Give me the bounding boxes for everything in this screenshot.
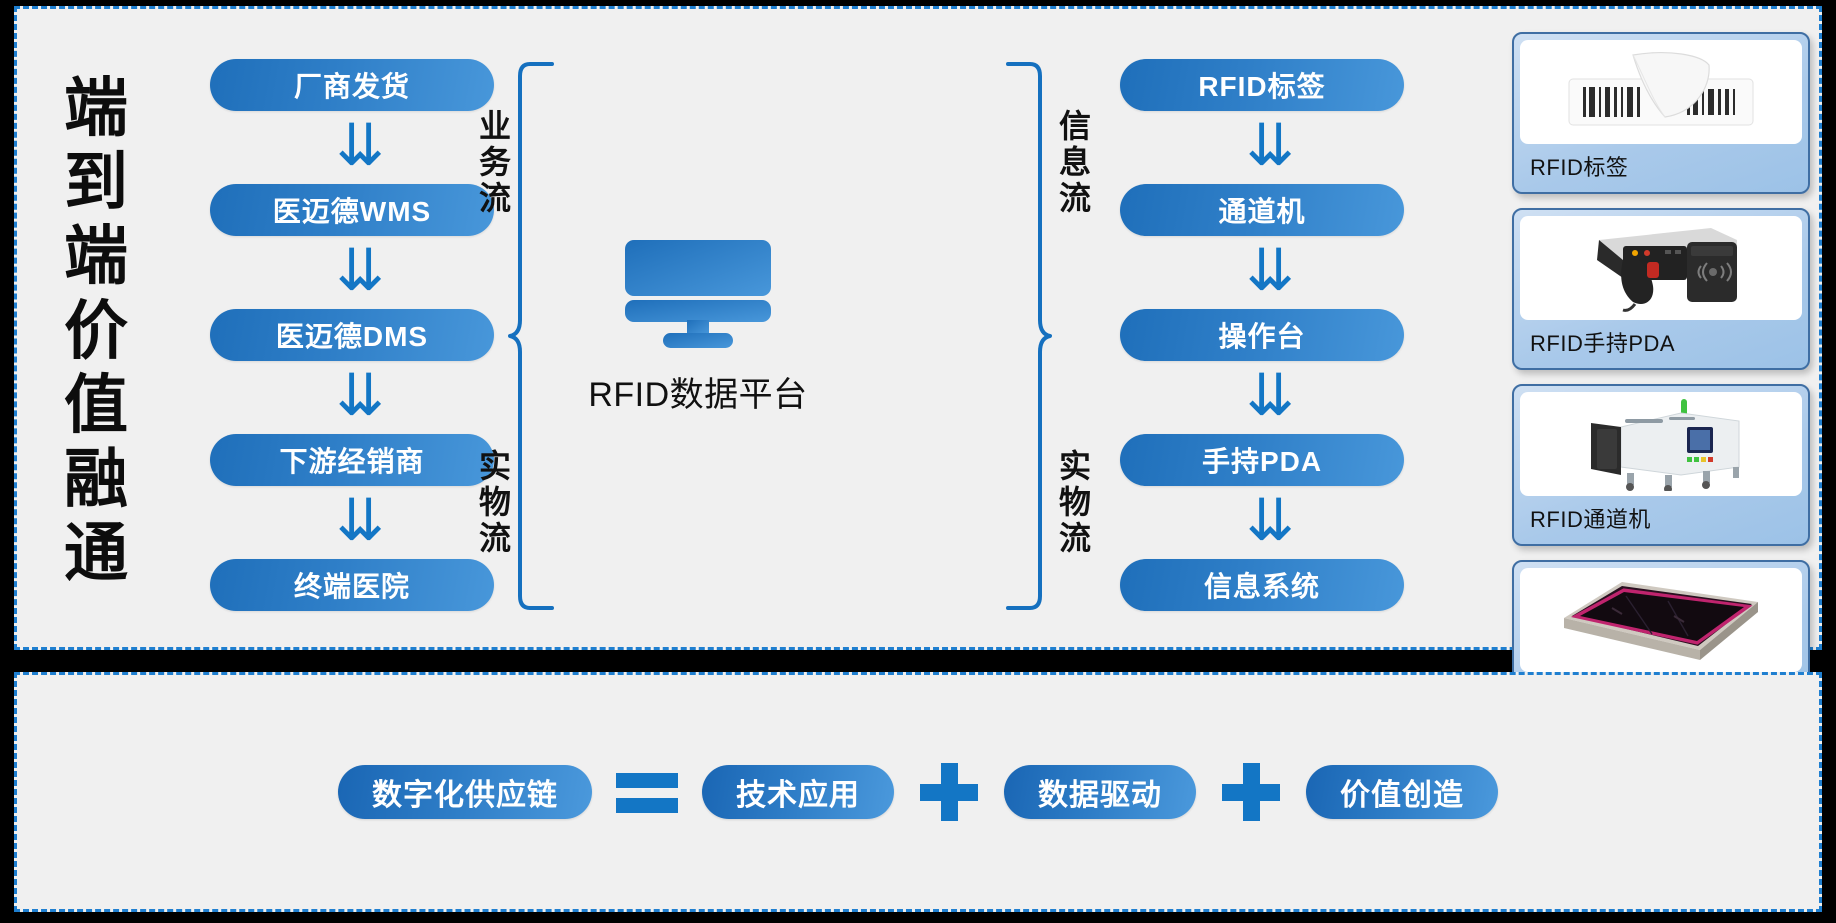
product-card-rfid-handheld-pda[interactable]: RFID手持PDA — [1512, 208, 1810, 370]
bottom-pill-data-driven[interactable]: 数据驱动 — [1004, 765, 1196, 819]
vlabel-char: 业 — [478, 108, 512, 144]
left-flow-brace — [508, 62, 554, 610]
plus-sign-slot — [894, 763, 1004, 821]
bottom-pill-technology-application[interactable]: 技术应用 — [702, 765, 894, 819]
left-flow-step-2[interactable]: 医迈德WMS — [210, 184, 494, 236]
product-card-label: RFID通道机 — [1520, 496, 1802, 534]
rfid-tag-photo — [1520, 40, 1802, 144]
left-flow-step-2-label: 医迈德WMS — [273, 190, 431, 230]
vlabel-char: 信 — [1058, 108, 1092, 144]
left-flow-step-3-label: 医迈德DMS — [276, 315, 428, 355]
headline-char: 端 — [44, 220, 148, 294]
bottom-pill-value-creation[interactable]: 价值创造 — [1306, 765, 1498, 819]
right-flow-step-2[interactable]: 通道机 — [1120, 184, 1404, 236]
headline-char: 到 — [44, 146, 148, 220]
left-flow-step-5[interactable]: 终端医院 — [210, 559, 494, 611]
bottom-pill-label: 数字化供应链 — [372, 770, 558, 814]
left-flow-step-1[interactable]: 厂商发货 — [210, 59, 494, 111]
left-flow-step-3[interactable]: 医迈德DMS — [210, 309, 494, 361]
right-flow-step-1[interactable]: RFID标签 — [1120, 59, 1404, 111]
vlabel-char: 息 — [1058, 144, 1092, 180]
right-flow-brace — [1006, 62, 1052, 610]
right-brace-label-information-flow: 信 息 流 — [1058, 108, 1092, 216]
headline-char: 融 — [44, 443, 148, 517]
bottom-pill-digital-supply-chain[interactable]: 数字化供应链 — [338, 765, 592, 819]
left-flow-step-1-label: 厂商发货 — [294, 65, 410, 105]
down-arrow-icon: ⇊ — [325, 118, 395, 176]
product-card-rfid-tag[interactable]: RFID标签 — [1512, 32, 1810, 194]
headline-char: 价 — [44, 295, 148, 369]
vlabel-char: 务 — [478, 144, 512, 180]
down-arrow-icon: ⇊ — [325, 493, 395, 551]
right-flow-step-3-label: 操作台 — [1218, 315, 1305, 355]
plus-sign-icon — [1222, 763, 1280, 821]
equals-sign-slot — [592, 769, 702, 815]
right-flow-step-3[interactable]: 操作台 — [1120, 309, 1404, 361]
right-flow-step-4-label: 手持PDA — [1202, 440, 1322, 480]
right-flow-step-5-label: 信息系统 — [1204, 565, 1320, 605]
right-flow-step-1-label: RFID标签 — [1198, 65, 1325, 105]
product-card-label: RFID标签 — [1520, 144, 1802, 182]
vlabel-char: 流 — [478, 180, 512, 216]
plus-sign-slot — [1196, 763, 1306, 821]
headline-char: 值 — [44, 369, 148, 443]
rfid-tunnel-reader-photo — [1520, 392, 1802, 496]
page-title: 端 到 端 价 值 融 通 — [44, 72, 148, 592]
product-card-rfid-tunnel-reader[interactable]: RFID通道机 — [1512, 384, 1810, 546]
vlabel-char: 物 — [1058, 484, 1092, 520]
down-arrow-icon: ⇊ — [1235, 118, 1305, 176]
bottom-pill-label: 价值创造 — [1340, 770, 1464, 814]
monitor-icon — [578, 240, 818, 353]
bottom-pill-label: 技术应用 — [736, 770, 860, 814]
vlabel-char: 实 — [1058, 448, 1092, 484]
vlabel-char: 物 — [478, 484, 512, 520]
down-arrow-icon: ⇊ — [1235, 368, 1305, 426]
equals-sign-icon — [616, 769, 678, 815]
vlabel-char: 实 — [478, 448, 512, 484]
rfid-workstation-photo — [1520, 568, 1802, 672]
down-arrow-icon: ⇊ — [325, 368, 395, 426]
product-card-label: RFID手持PDA — [1520, 320, 1802, 358]
right-brace-label-physical-flow: 实 物 流 — [1058, 448, 1092, 556]
rfid-handheld-pda-photo — [1520, 216, 1802, 320]
down-arrow-icon: ⇊ — [1235, 493, 1305, 551]
vlabel-char: 流 — [1058, 520, 1092, 556]
headline-char: 端 — [44, 72, 148, 146]
left-brace-label-business-flow: 业 务 流 — [478, 108, 512, 216]
rfid-data-platform-label: RFID数据平台 — [578, 367, 818, 416]
left-flow-step-4[interactable]: 下游经销商 — [210, 434, 494, 486]
vlabel-char: 流 — [478, 520, 512, 556]
plus-sign-icon — [920, 763, 978, 821]
right-flow-step-5[interactable]: 信息系统 — [1120, 559, 1404, 611]
down-arrow-icon: ⇊ — [325, 243, 395, 301]
value-equation-row: 数字化供应链 技术应用 数据驱动 价值创造 — [14, 672, 1822, 912]
headline-char: 通 — [44, 517, 148, 591]
vlabel-char: 流 — [1058, 180, 1092, 216]
right-flow-step-2-label: 通道机 — [1218, 190, 1305, 230]
left-brace-label-physical-flow: 实 物 流 — [478, 448, 512, 556]
bottom-pill-label: 数据驱动 — [1038, 770, 1162, 814]
diagram-canvas: 端 到 端 价 值 融 通 厂商发货 ⇊ 医迈德WMS ⇊ 医迈德DMS ⇊ 下… — [0, 0, 1836, 923]
left-flow-step-4-label: 下游经销商 — [279, 440, 424, 480]
rfid-data-platform: RFID数据平台 — [578, 240, 818, 430]
right-flow-step-4[interactable]: 手持PDA — [1120, 434, 1404, 486]
left-flow-step-5-label: 终端医院 — [294, 565, 410, 605]
down-arrow-icon: ⇊ — [1235, 243, 1305, 301]
